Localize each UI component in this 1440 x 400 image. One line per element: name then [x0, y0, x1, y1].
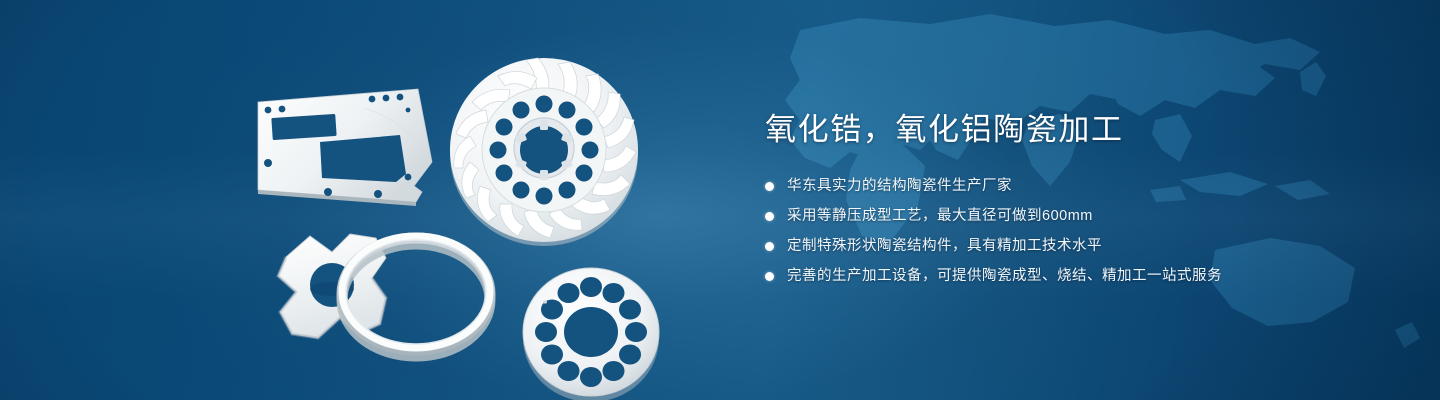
ceramic-perforated-ring	[523, 268, 659, 400]
ceramic-mounting-plate	[258, 89, 432, 206]
feature-item: 定制特殊形状陶瓷结构件，具有精加工技术水平	[765, 236, 1385, 258]
feature-list: 华东具实力的结构陶瓷件生产厂家 采用等静压成型工艺，最大直径可做到600mm 定…	[765, 176, 1385, 288]
feature-text: 采用等静压成型工艺，最大直径可做到600mm	[787, 206, 1093, 228]
ceramic-impeller-disc	[450, 58, 638, 246]
bullet-dot-icon	[765, 182, 774, 191]
banner-headline: 氧化锆，氧化铝陶瓷加工	[765, 110, 1385, 151]
feature-item: 采用等静压成型工艺，最大直径可做到600mm	[765, 206, 1385, 228]
product-hero-banner: 氧化锆，氧化铝陶瓷加工 华东具实力的结构陶瓷件生产厂家 采用等静压成型工艺，最大…	[0, 0, 1440, 400]
banner-copy: 氧化锆，氧化铝陶瓷加工 华东具实力的结构陶瓷件生产厂家 采用等静压成型工艺，最大…	[765, 110, 1385, 296]
bullet-dot-icon	[765, 242, 774, 251]
feature-text: 完善的生产加工设备，可提供陶瓷成型、烧结、精加工一站式服务	[787, 266, 1222, 288]
bullet-dot-icon	[765, 272, 774, 281]
feature-item: 华东具实力的结构陶瓷件生产厂家	[765, 176, 1385, 198]
feature-text: 华东具实力的结构陶瓷件生产厂家	[787, 176, 1012, 198]
feature-text: 定制特殊形状陶瓷结构件，具有精加工技术水平	[787, 236, 1102, 258]
ceramic-products-image	[236, 42, 696, 382]
feature-item: 完善的生产加工设备，可提供陶瓷成型、烧结、精加工一站式服务	[765, 266, 1385, 288]
bullet-dot-icon	[765, 212, 774, 221]
